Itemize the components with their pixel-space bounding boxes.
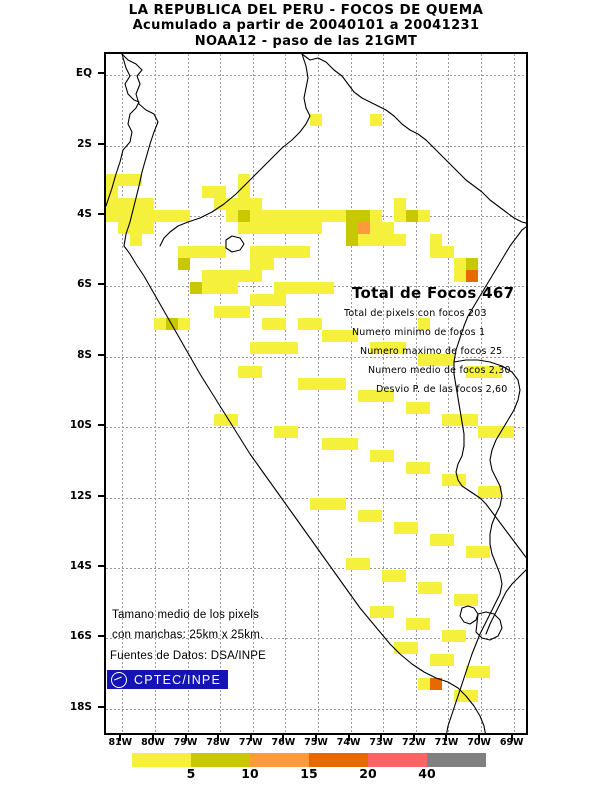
legend-swatch-1: [132, 753, 191, 767]
lat-label-EQ: EQ: [62, 67, 92, 79]
lat-label-6S: 6S: [62, 278, 92, 290]
swirl-icon: [111, 672, 127, 688]
lat-label-2S: 2S: [62, 138, 92, 150]
lon-tick-71W: [445, 735, 447, 741]
lat-label-4S: 4S: [62, 208, 92, 220]
legend-tick-15: 15: [294, 766, 324, 781]
chart-title-block: LA REPUBLICA DEL PERU - FOCOS DE QUEMA A…: [0, 2, 612, 50]
lon-tick-70W: [478, 735, 480, 741]
legend-swatch-4: [309, 753, 368, 767]
stats-line-3: Numero maximo de focos 25: [360, 346, 502, 357]
color-legend-ticks: 510152040: [0, 766, 612, 782]
legend-tick-20: 20: [353, 766, 383, 781]
stats-line-1: Total de pixels con focos 203: [344, 308, 487, 319]
title-line-3: NOAA12 - paso de las 21GMT: [0, 34, 612, 50]
lat-label-16S: 16S: [62, 630, 92, 642]
color-legend-bar: [132, 753, 486, 767]
lat-label-10S: 10S: [62, 419, 92, 431]
note-line-2: con manchas: 25km x 25km.: [112, 629, 263, 641]
note-line-1: Tamano medio de los pixels: [112, 609, 259, 621]
lon-tick-74W: [348, 735, 350, 741]
lon-tick-78W: [217, 735, 219, 741]
lon-tick-69W: [511, 735, 513, 741]
legend-tick-5: 5: [176, 766, 206, 781]
lat-label-12S: 12S: [62, 490, 92, 502]
logo-label: CPTEC/INPE: [134, 673, 221, 687]
cptec-inpe-logo[interactable]: CPTEC/INPE: [107, 670, 228, 689]
lat-label-18S: 18S: [62, 701, 92, 713]
lat-label-8S: 8S: [62, 349, 92, 361]
lon-tick-77W: [250, 735, 252, 741]
lon-tick-81W: [119, 735, 121, 741]
lon-tick-73W: [380, 735, 382, 741]
stats-line-5: Desvio P. de las focos 2,60: [376, 384, 508, 395]
title-line-1: LA REPUBLICA DEL PERU - FOCOS DE QUEMA: [0, 2, 612, 18]
legend-swatch-5: [368, 753, 427, 767]
title-line-2: Acumulado a partir de 20040101 a 2004123…: [0, 18, 612, 34]
lon-tick-80W: [152, 735, 154, 741]
lon-tick-72W: [413, 735, 415, 741]
note-line-3: Fuentes de Datos: DSA/INPE: [110, 650, 266, 662]
lon-tick-79W: [185, 735, 187, 741]
lat-label-14S: 14S: [62, 560, 92, 572]
lon-tick-75W: [315, 735, 317, 741]
legend-swatch-6: [427, 753, 486, 767]
legend-tick-10: 10: [235, 766, 265, 781]
legend-tick-40: 40: [412, 766, 442, 781]
legend-swatch-2: [191, 753, 250, 767]
stats-line-4: Numero medio de focos 2,30: [368, 365, 511, 376]
stats-heading: Total de Focos 467: [352, 284, 514, 302]
legend-swatch-3: [250, 753, 309, 767]
lon-tick-76W: [282, 735, 284, 741]
stats-line-2: Numero minimo de focos 1: [352, 327, 485, 338]
